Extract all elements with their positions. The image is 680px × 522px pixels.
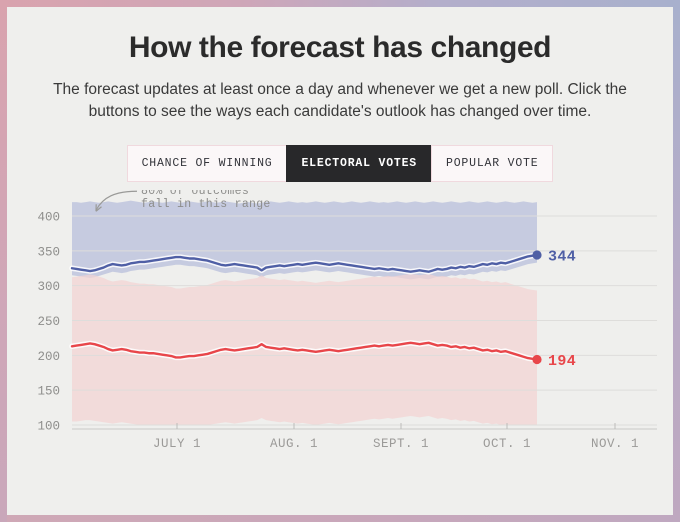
forecast-chart: 100150200250300350400 344194 JULY 1AUG. … <box>7 190 673 490</box>
page-title: How the forecast has changed <box>7 7 673 65</box>
blue-series-value: 344 <box>548 249 576 266</box>
x-tick-label-3: OCT. 1 <box>483 437 531 451</box>
annotation-line-2: fall in this range <box>141 198 271 211</box>
page-subtitle: The forecast updates at least once a day… <box>35 79 645 123</box>
tab-electoral-votes[interactable]: ELECTORAL VOTES <box>286 145 431 182</box>
forecast-widget: How the forecast has changed The forecas… <box>0 0 680 522</box>
widget-content: How the forecast has changed The forecas… <box>7 7 673 515</box>
y-tick-100: 100 <box>37 420 60 434</box>
tab-popular-vote[interactable]: POPULAR VOTE <box>431 145 553 182</box>
uncertainty-bands <box>72 201 537 425</box>
y-tick-300: 300 <box>37 280 60 294</box>
end-dot-0 <box>532 250 541 259</box>
x-tick-label-0: JULY 1 <box>153 437 201 451</box>
y-tick-250: 250 <box>37 315 60 329</box>
y-axis-tick-labels: 100150200250300350400 <box>37 211 60 434</box>
tab-chance-of-winning[interactable]: CHANCE OF WINNING <box>127 145 287 182</box>
x-axis: JULY 1AUG. 1SEPT. 1OCT. 1NOV. 1 <box>72 423 657 451</box>
x-tick-label-1: AUG. 1 <box>270 437 318 451</box>
y-tick-200: 200 <box>37 350 60 364</box>
y-tick-150: 150 <box>37 385 60 399</box>
frame-border-right <box>673 0 680 522</box>
x-tick-label-4: NOV. 1 <box>591 437 639 451</box>
view-tab-group: CHANCE OF WINNING ELECTORAL VOTES POPULA… <box>7 145 673 182</box>
frame-border-bottom <box>0 515 680 522</box>
red-series-value: 194 <box>548 353 576 370</box>
series-end-labels: 344194 <box>548 249 576 371</box>
x-tick-label-2: SEPT. 1 <box>373 437 429 451</box>
frame-border-top <box>0 0 680 7</box>
end-dot-1 <box>532 355 541 364</box>
y-tick-400: 400 <box>37 211 60 225</box>
y-tick-350: 350 <box>37 245 60 259</box>
forecast-chart-svg: 100150200250300350400 344194 JULY 1AUG. … <box>7 190 673 490</box>
annotation-line-1: 80% of outcomes <box>141 190 249 198</box>
frame-border-left <box>0 0 7 522</box>
